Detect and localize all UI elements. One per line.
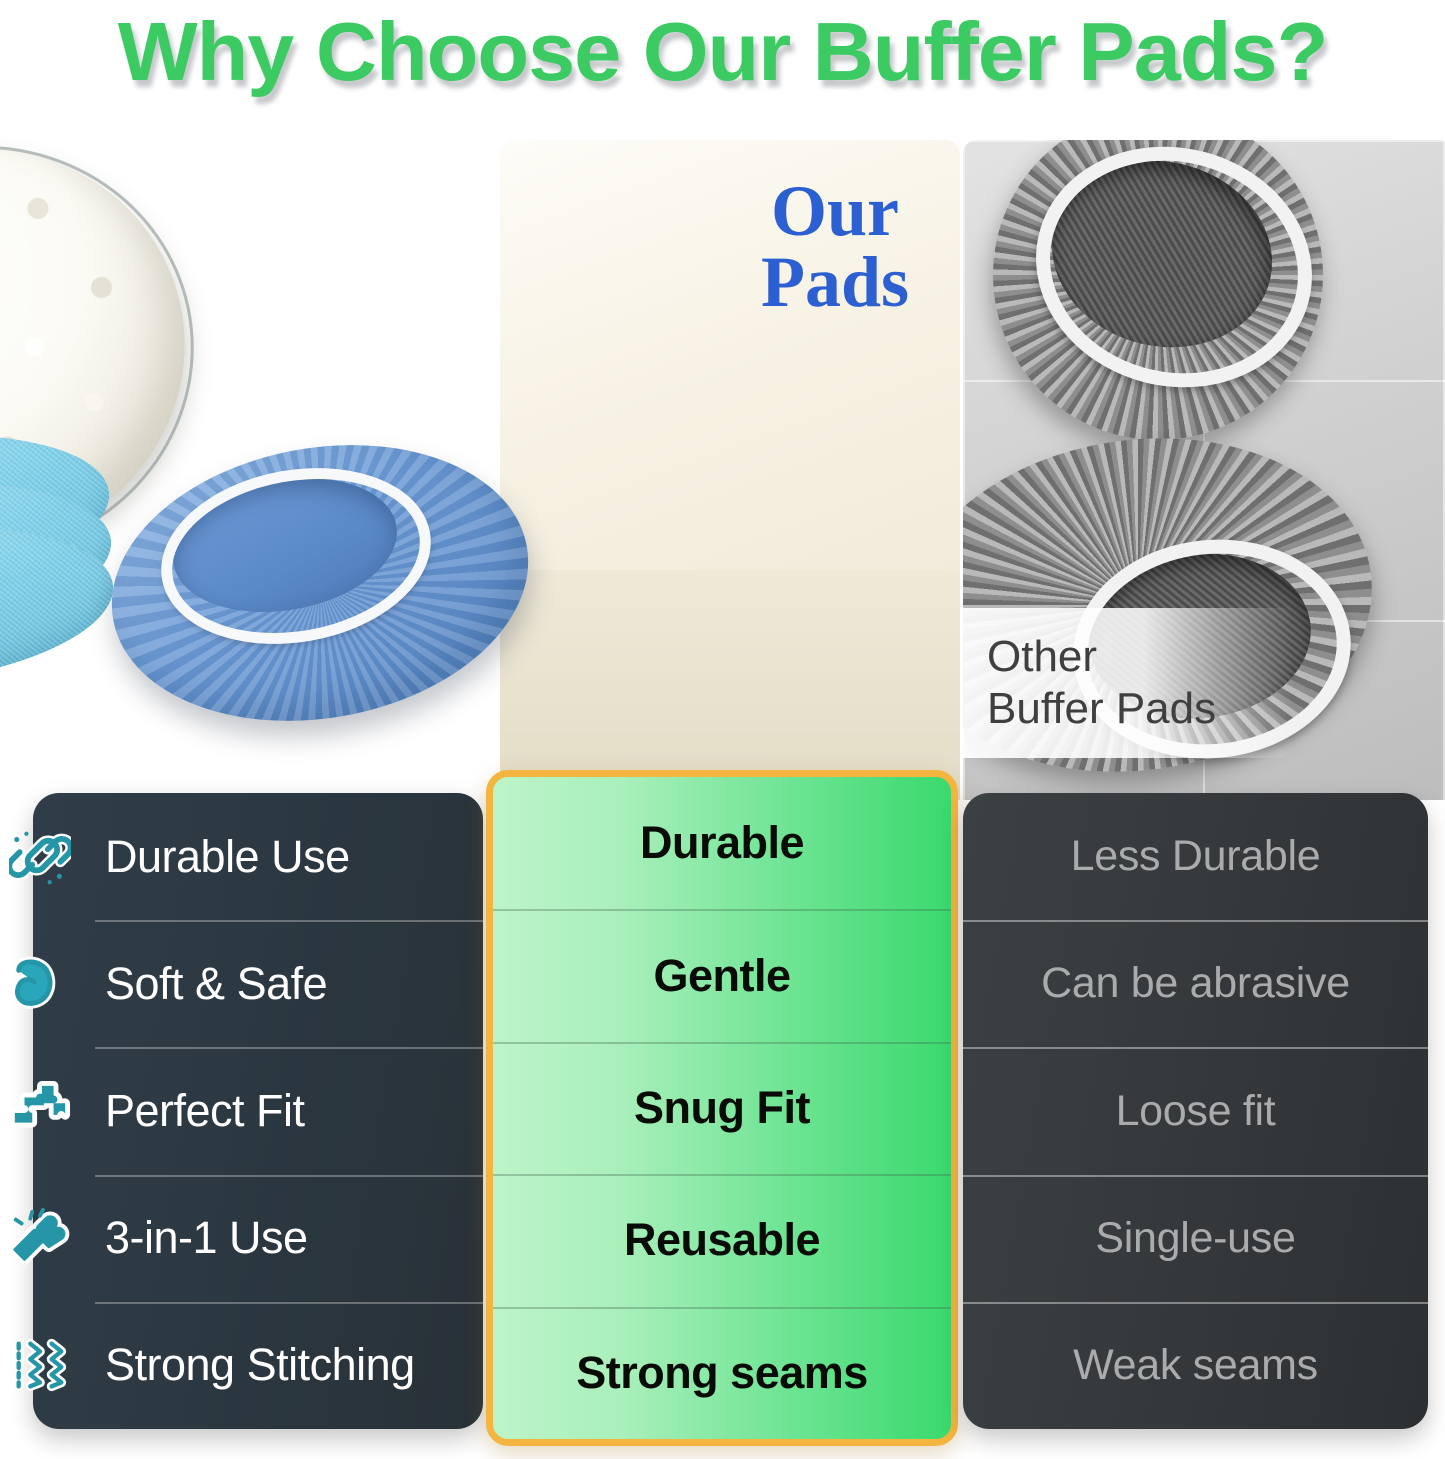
our-value: Durable: [640, 817, 804, 869]
table-row: Durable: [493, 777, 951, 909]
table-row: Strong Stitching: [33, 1302, 483, 1429]
icon-cell: [0, 1302, 80, 1429]
table-row: Perfect Fit: [33, 1047, 483, 1174]
table-row: Soft & Safe: [33, 920, 483, 1047]
broken-chain-icon: [9, 826, 71, 888]
stitching-icon: [9, 1334, 71, 1396]
table-row: Loose fit: [963, 1047, 1428, 1174]
table-row: Durable Use: [33, 793, 483, 920]
table-row: Reusable: [493, 1174, 951, 1306]
table-row: Gentle: [493, 909, 951, 1041]
comparison-table: Durable Use Soft & Safe Perfect Fit 3-in…: [0, 0, 1445, 1459]
icon-cell: [0, 1175, 80, 1302]
feature-label: Durable Use: [105, 831, 350, 883]
icon-cell: [0, 1047, 80, 1174]
our-value: Snug Fit: [634, 1082, 810, 1134]
table-row: Less Durable: [963, 793, 1428, 920]
our-pads-column: Durable Gentle Snug Fit Reusable Strong …: [486, 770, 958, 1446]
table-row: Single-use: [963, 1175, 1428, 1302]
feather-icon: [9, 953, 71, 1015]
icon-cell: [0, 793, 80, 920]
table-row: 3-in-1 Use: [33, 1175, 483, 1302]
clapping-hand-icon: [9, 1207, 71, 1269]
our-value: Gentle: [653, 950, 790, 1002]
other-value: Loose fit: [1116, 1087, 1276, 1136]
feature-label: Soft & Safe: [105, 958, 327, 1010]
table-row: Weak seams: [963, 1302, 1428, 1429]
table-row: Snug Fit: [493, 1042, 951, 1174]
our-value: Reusable: [624, 1214, 820, 1266]
other-value: Single-use: [1095, 1214, 1295, 1263]
puzzle-pieces-icon: [9, 1080, 71, 1142]
feature-label: Strong Stitching: [105, 1339, 415, 1391]
other-value: Less Durable: [1071, 832, 1321, 881]
other-value: Can be abrasive: [1041, 959, 1350, 1008]
feature-column: Durable Use Soft & Safe Perfect Fit 3-in…: [33, 793, 483, 1429]
icon-cell: [0, 920, 80, 1047]
feature-icon-column: [0, 793, 80, 1429]
feature-label: 3-in-1 Use: [105, 1212, 308, 1264]
other-value: Weak seams: [1073, 1341, 1318, 1390]
feature-label: Perfect Fit: [105, 1085, 305, 1137]
our-value: Strong seams: [576, 1347, 868, 1399]
table-row: Strong seams: [493, 1307, 951, 1439]
other-pads-column: Less Durable Can be abrasive Loose fit S…: [963, 793, 1428, 1429]
table-row: Can be abrasive: [963, 920, 1428, 1047]
